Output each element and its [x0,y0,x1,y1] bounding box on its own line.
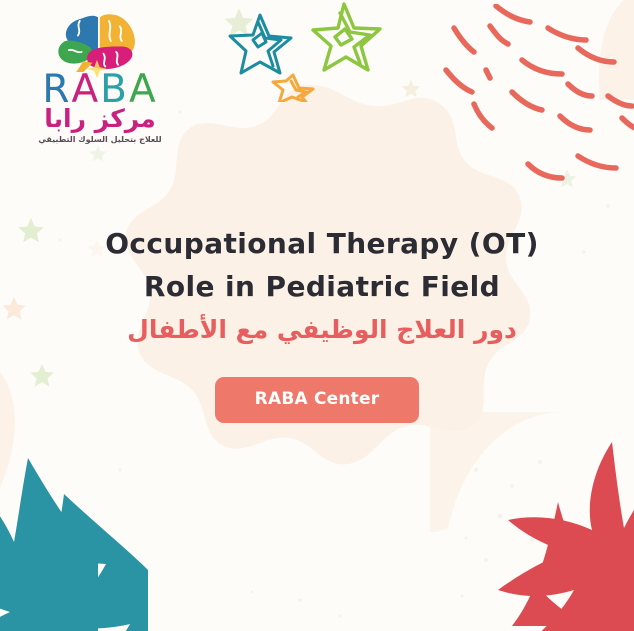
star-green-icon [313,4,380,70]
teal-leaf [0,450,168,631]
faint-star-icon [0,295,28,323]
coral-leaf [492,440,634,631]
logo-arabic-name: مركز رابا [14,106,186,131]
raba-center-button[interactable]: RABA Center [215,377,420,423]
star-orange-icon [273,75,313,102]
logo-arabic-tagline: للعلاج بتحليل السلوك التطبيقي [14,136,186,144]
poster-canvas: RABA مركز رابا للعلاج بتحليل السلوك التط… [0,0,634,631]
faint-star-icon [28,362,56,390]
scribble-stars-group [228,2,398,102]
coral-dash-strokes [438,4,634,184]
star-teal-icon [230,15,291,73]
faint-star-icon [16,216,46,246]
raba-center-logo[interactable]: RABA مركز رابا للعلاج بتحليل السلوك التط… [14,8,186,158]
